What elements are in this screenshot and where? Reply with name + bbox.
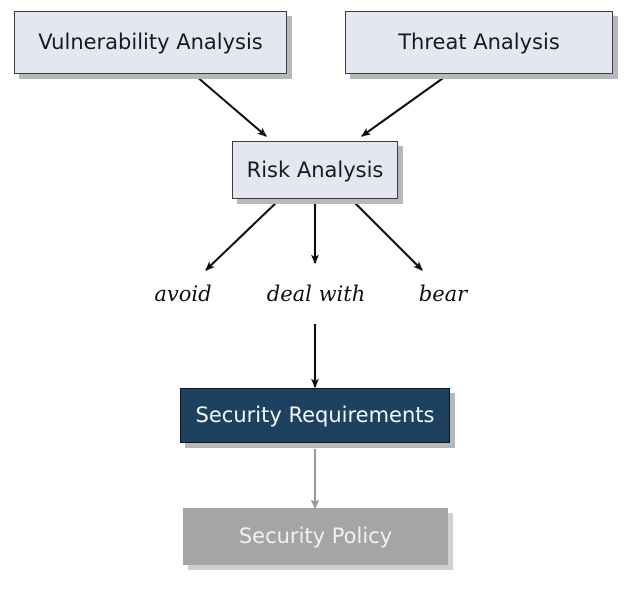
- node-label: Risk Analysis: [247, 158, 384, 182]
- edge-label-deal-with: deal with: [267, 282, 365, 306]
- node-security-requirements[interactable]: Security Requirements: [180, 388, 450, 443]
- node-security-policy[interactable]: Security Policy: [183, 508, 448, 565]
- node-label: Vulnerability Analysis: [38, 30, 263, 54]
- node-vulnerability-analysis[interactable]: Vulnerability Analysis: [14, 11, 287, 74]
- node-label: Security Policy: [239, 524, 392, 548]
- edge-threat-to-risk: [362, 76, 446, 136]
- node-label: Security Requirements: [196, 403, 435, 427]
- edge-risk-to-avoid: [206, 200, 279, 270]
- node-label: Threat Analysis: [398, 30, 560, 54]
- risk-analysis-diagram: Vulnerability Analysis Threat Analysis R…: [0, 0, 638, 595]
- node-threat-analysis[interactable]: Threat Analysis: [345, 11, 613, 74]
- edge-vulnerability-to-risk: [196, 76, 266, 136]
- edge-risk-to-bear: [352, 200, 422, 270]
- edge-label-avoid: avoid: [154, 282, 211, 306]
- edge-label-bear: bear: [419, 282, 467, 306]
- node-risk-analysis[interactable]: Risk Analysis: [232, 141, 398, 199]
